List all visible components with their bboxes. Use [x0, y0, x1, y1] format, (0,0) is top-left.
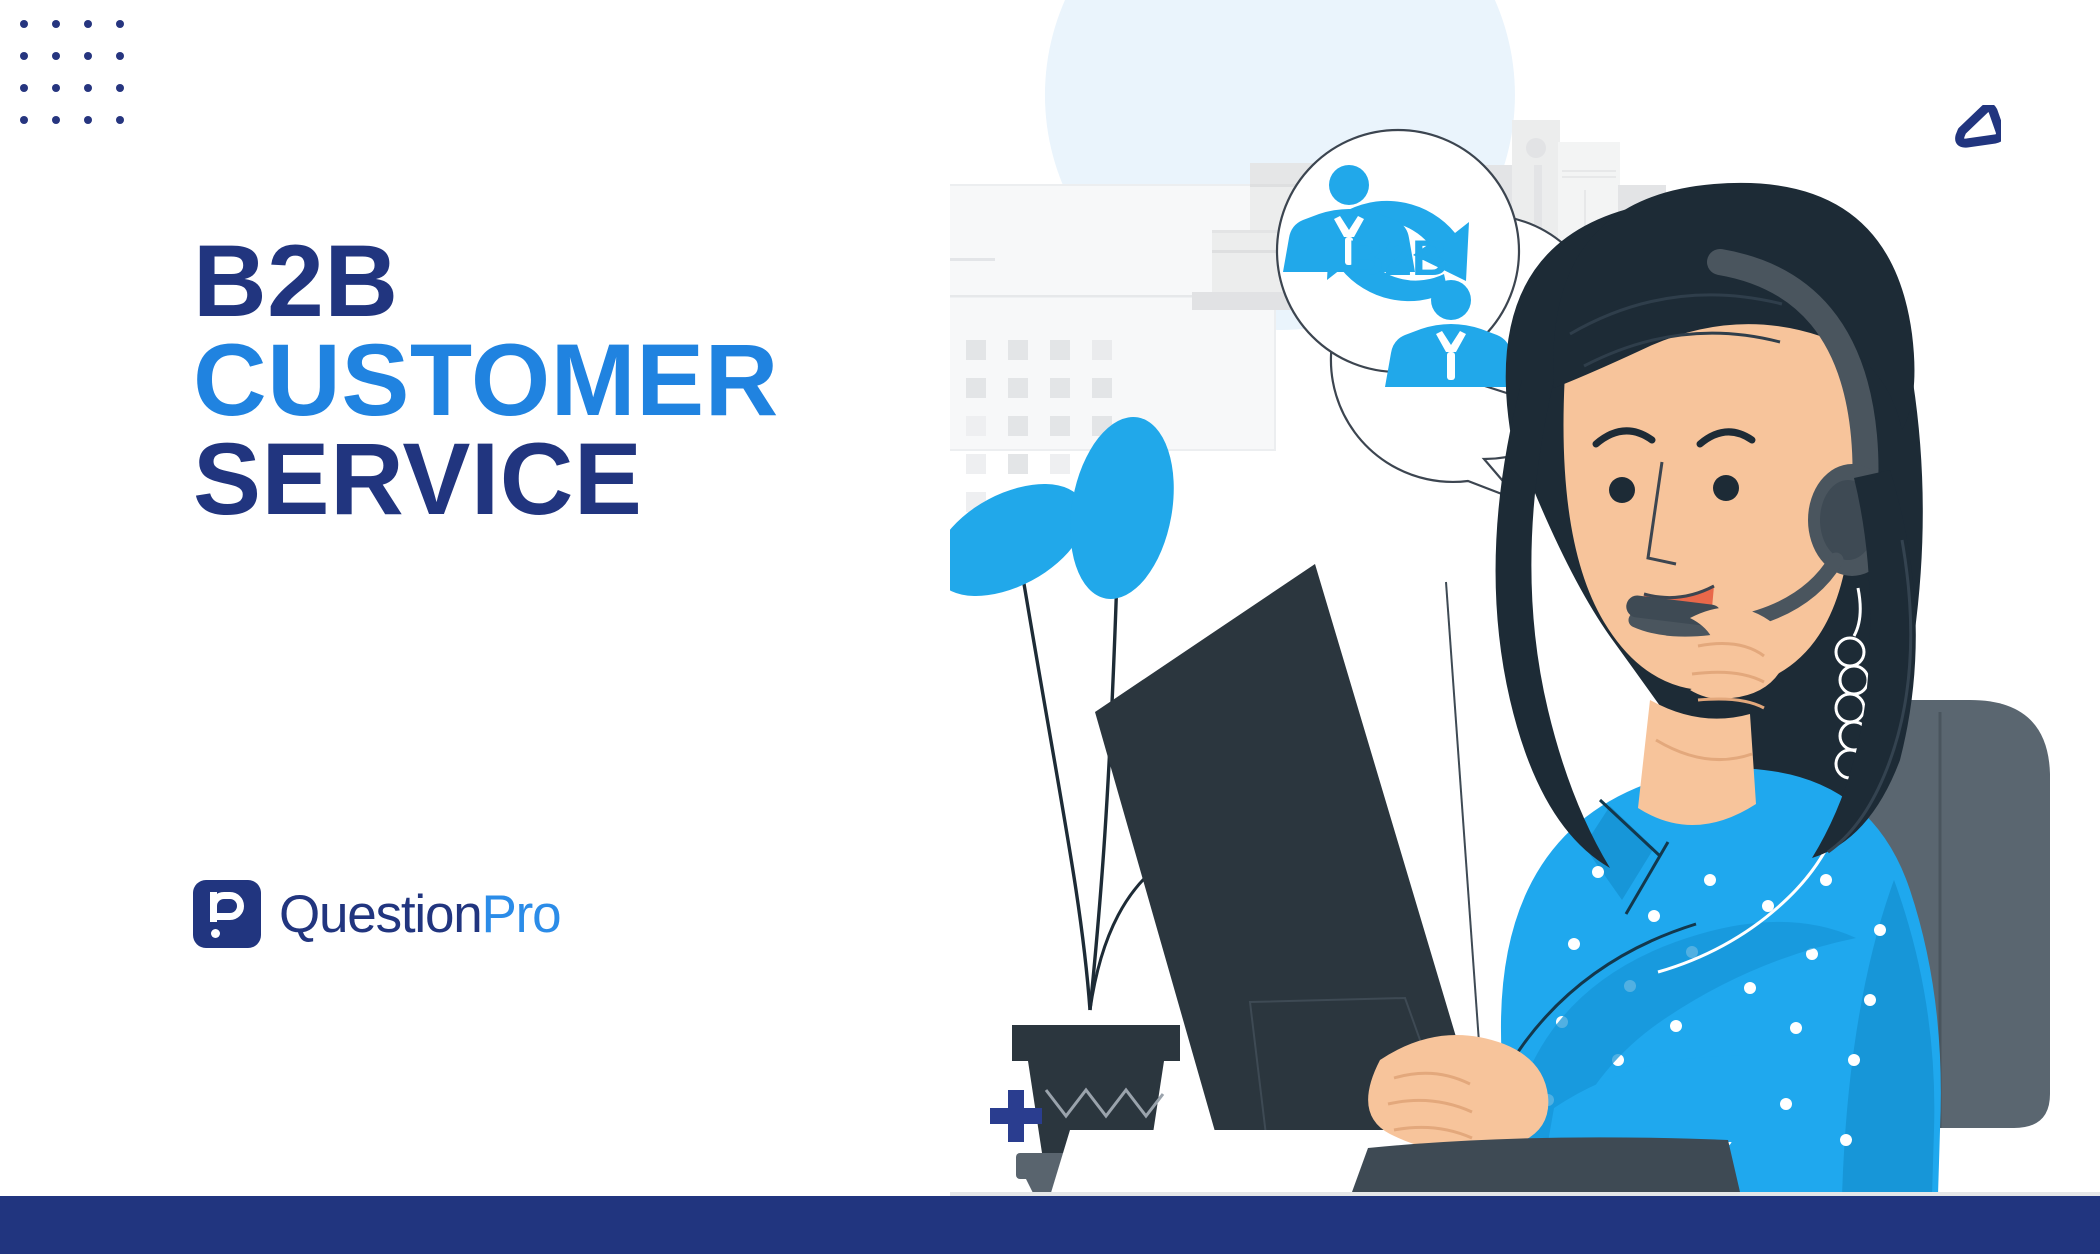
grid-dot	[84, 84, 92, 92]
grid-dot	[52, 116, 60, 124]
title-line-3: SERVICE	[193, 430, 779, 529]
title-line-1: B2B	[193, 232, 779, 331]
grid-dot	[20, 20, 28, 28]
wordmark-pro: Pro	[482, 885, 561, 944]
grid-dot	[20, 52, 28, 60]
grid-dot	[116, 20, 124, 28]
illustration-scene: B2B	[950, 0, 2100, 1196]
grid-dot	[52, 52, 60, 60]
grid-dot	[52, 84, 60, 92]
grid-dot	[116, 116, 124, 124]
banner-canvas: B2B CUSTOMER SERVICE QuestionPro	[0, 0, 2100, 1254]
b2b-bubble-label: B2B	[1348, 230, 1448, 286]
title-line-2: CUSTOMER	[193, 331, 779, 430]
grid-dot	[84, 20, 92, 28]
grid-dot	[116, 84, 124, 92]
bottom-navy-bar	[0, 1196, 2100, 1254]
logo-p-dot	[211, 929, 220, 938]
logo-p-stem	[210, 892, 217, 922]
grid-dot	[20, 116, 28, 124]
dot-grid-decoration	[20, 20, 148, 148]
grid-dot	[52, 20, 60, 28]
grid-dot	[116, 52, 124, 60]
questionpro-wordmark: QuestionPro	[279, 888, 560, 941]
grid-dot	[84, 52, 92, 60]
page-title: B2B CUSTOMER SERVICE	[193, 232, 779, 529]
grid-dot	[84, 116, 92, 124]
wordmark-question: Question	[279, 885, 482, 944]
questionpro-logo-mark-icon	[193, 880, 261, 948]
questionpro-logo[interactable]: QuestionPro	[193, 880, 560, 948]
keyboard	[1352, 1137, 1740, 1192]
grid-dot	[20, 84, 28, 92]
